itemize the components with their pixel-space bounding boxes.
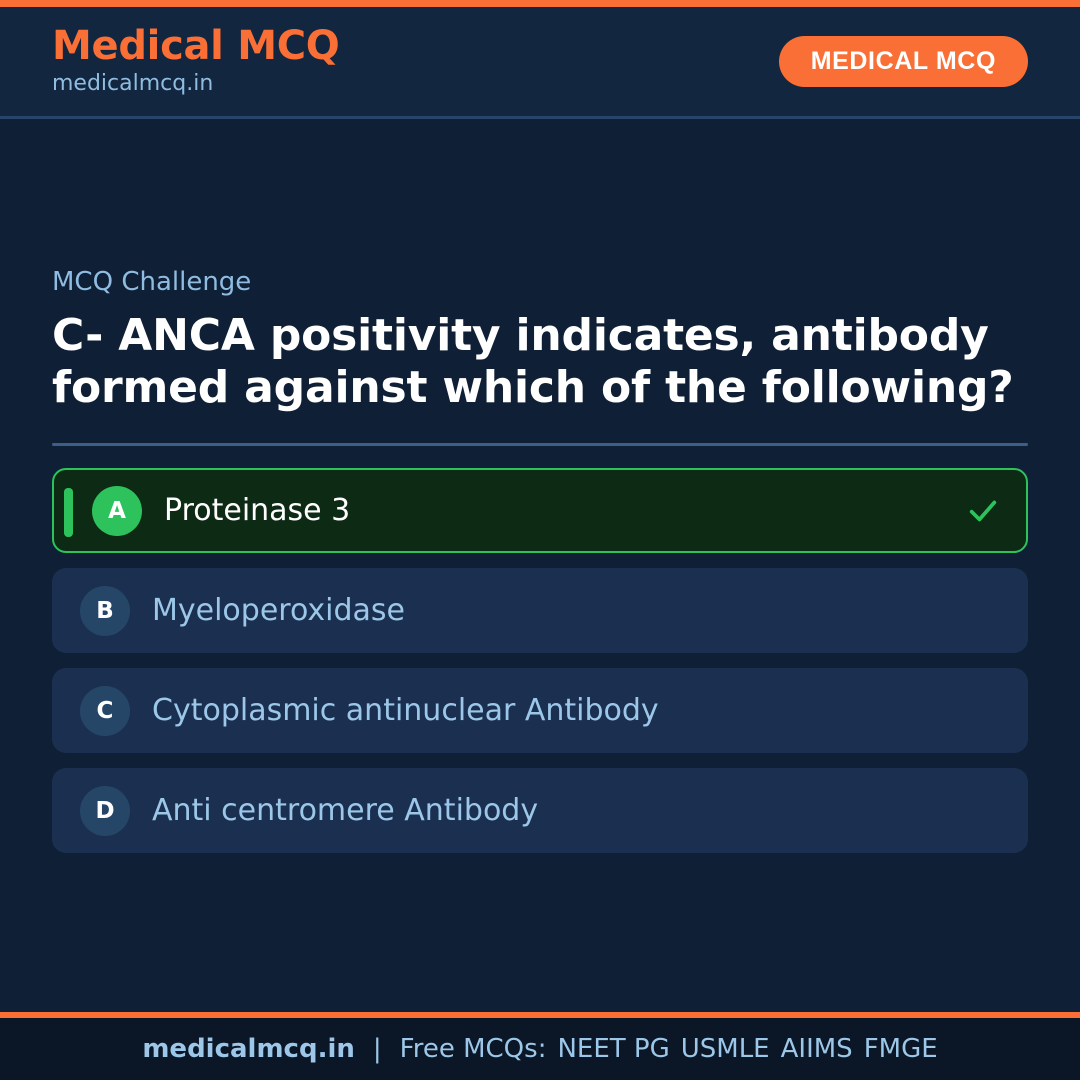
footer-site[interactable]: medicalmcq.in — [142, 1034, 355, 1064]
options-list: A Proteinase 3 B Myeloperoxidase C Cytop… — [52, 468, 1028, 853]
option-text-a: Proteinase 3 — [164, 493, 950, 529]
option-letter-c: C — [80, 686, 130, 736]
correct-accent-bar — [64, 488, 73, 537]
option-letter-b: B — [80, 586, 130, 636]
footer-exam-aiims: AIIMS — [781, 1034, 853, 1064]
checkmark-icon — [966, 494, 1000, 528]
option-text-c: Cytoplasmic antinuclear Antibody — [152, 693, 1002, 729]
kicker-label: MCQ Challenge — [52, 267, 1028, 298]
top-accent-rule — [0, 0, 1080, 7]
question-divider — [52, 443, 1028, 446]
footer-exam-usmle: USMLE — [681, 1034, 770, 1064]
option-row-c[interactable]: C Cytoplasmic antinuclear Antibody — [52, 668, 1028, 753]
brand-badge: MEDICAL MCQ — [779, 36, 1028, 87]
footer-exam-neet-pg: NEET PG — [557, 1034, 669, 1064]
footer-label: Free MCQs: — [400, 1034, 547, 1064]
brand-title: Medical MCQ — [52, 25, 339, 68]
option-letter-d: D — [80, 786, 130, 836]
footer-exam-fmge: FMGE — [864, 1034, 938, 1064]
option-row-d[interactable]: D Anti centromere Antibody — [52, 768, 1028, 853]
question-text: C- ANCA positivity indicates, antibody f… — [52, 310, 1028, 413]
brand-block: Medical MCQ medicalmcq.in — [52, 25, 339, 98]
header-bar: Medical MCQ medicalmcq.in MEDICAL MCQ — [0, 7, 1080, 119]
option-row-a[interactable]: A Proteinase 3 — [52, 468, 1028, 553]
footer-text-group: medicalmcq.in | Free MCQs: NEET PG USMLE… — [142, 1034, 937, 1064]
main-content: MCQ Challenge C- ANCA positivity indicat… — [0, 119, 1080, 1012]
footer-separator: | — [366, 1034, 389, 1064]
mcq-card: Medical MCQ medicalmcq.in MEDICAL MCQ MC… — [0, 0, 1080, 1080]
option-text-d: Anti centromere Antibody — [152, 793, 1002, 829]
option-text-b: Myeloperoxidase — [152, 593, 1002, 629]
option-row-b[interactable]: B Myeloperoxidase — [52, 568, 1028, 653]
option-letter-a: A — [92, 486, 142, 536]
brand-subtitle: medicalmcq.in — [52, 70, 339, 98]
footer-bar: medicalmcq.in | Free MCQs: NEET PG USMLE… — [0, 1018, 1080, 1080]
